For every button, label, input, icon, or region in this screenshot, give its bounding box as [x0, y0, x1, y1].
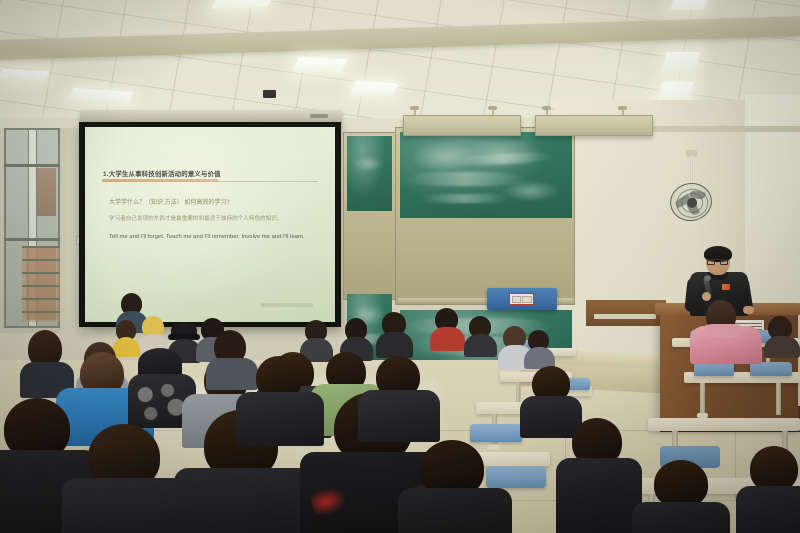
ceiling-light-panel — [292, 57, 348, 73]
window-louver — [22, 246, 60, 322]
oscillating-fan-icon[interactable] — [670, 183, 714, 223]
slide-title: 1.大学生从事科技创新活动的意义与价值 — [103, 169, 221, 178]
window-mullion — [4, 238, 60, 241]
board-lamp — [403, 115, 521, 136]
board-lamp — [535, 115, 653, 136]
slide-line-2: 学习者自己发现的东西才是最重要的和最适于独特的个人特色的知识。 — [109, 214, 282, 222]
student — [690, 300, 760, 360]
ceiling-light-panel — [670, 0, 708, 10]
microphone-head-icon — [704, 275, 711, 281]
side-chalkboard-upper — [347, 136, 392, 211]
seat[interactable] — [750, 362, 792, 376]
student-head — [654, 460, 708, 508]
student — [736, 446, 800, 533]
student-jacket — [430, 327, 465, 351]
student — [300, 320, 332, 356]
exterior-brick-view — [37, 168, 56, 216]
student — [524, 330, 554, 364]
dark-jacket — [174, 468, 312, 533]
av-console[interactable] — [586, 300, 666, 326]
student — [764, 316, 798, 350]
utility-cabinet[interactable] — [487, 288, 557, 310]
student-jacket — [764, 336, 800, 358]
ceiling-light-panel — [350, 81, 399, 96]
student — [556, 418, 640, 533]
student — [398, 440, 510, 533]
ceiling-light-panel — [658, 82, 694, 100]
window-mullion — [4, 164, 60, 167]
eyeglasses-icon — [707, 259, 728, 264]
dark-jacket — [556, 458, 642, 533]
ceiling-light-panel — [662, 52, 701, 72]
student — [376, 312, 412, 352]
main-chalkboard-frame — [395, 127, 575, 305]
board-lamp-mount — [618, 106, 627, 110]
power-outlet-panel[interactable] — [509, 293, 534, 305]
student — [340, 318, 372, 356]
board-lamp-mount — [488, 106, 497, 110]
student — [430, 308, 464, 346]
dark-jacket — [398, 488, 512, 533]
slide-line-1: 大学学什么？（知识 方法） 如何高效的学习? — [109, 197, 230, 206]
desk-leg — [700, 383, 705, 415]
slide-english-quote: Tell me and I'll forget. Teach me and I'… — [109, 233, 319, 242]
board-lamp-mount — [410, 106, 419, 110]
board-lamp-mount — [542, 106, 551, 110]
student — [138, 316, 168, 350]
student — [632, 460, 728, 533]
dark-jacket — [632, 502, 730, 533]
console-shelf — [594, 314, 656, 319]
student — [236, 356, 322, 436]
student-jacket — [464, 334, 497, 357]
outlet-socket-icon — [522, 296, 532, 303]
seat[interactable] — [694, 362, 734, 376]
ceiling-projector — [263, 90, 276, 98]
slide-footer-mark — [261, 303, 313, 307]
screen-housing-brand-icon — [310, 114, 328, 118]
jacket-hood — [704, 324, 742, 338]
student — [358, 356, 438, 434]
dark-jacket — [236, 392, 324, 446]
dark-jacket — [358, 390, 440, 442]
student — [464, 316, 496, 352]
side-chalkboard-frame — [343, 132, 396, 300]
jacket-logo-icon — [722, 284, 730, 290]
student — [62, 424, 192, 533]
desk-row — [648, 418, 800, 431]
dark-jacket — [736, 486, 800, 533]
fan-cage — [667, 180, 714, 224]
desk-leg — [776, 383, 781, 415]
slide-accent-bar — [102, 179, 218, 182]
outlet-socket-icon — [512, 296, 522, 303]
main-chalkboard-upper — [400, 132, 572, 218]
lecture-hall-photograph: 1.大学生从事科技创新活动的意义与价值 大学学什么？（知识 方法） 如何高效的学… — [0, 0, 800, 533]
